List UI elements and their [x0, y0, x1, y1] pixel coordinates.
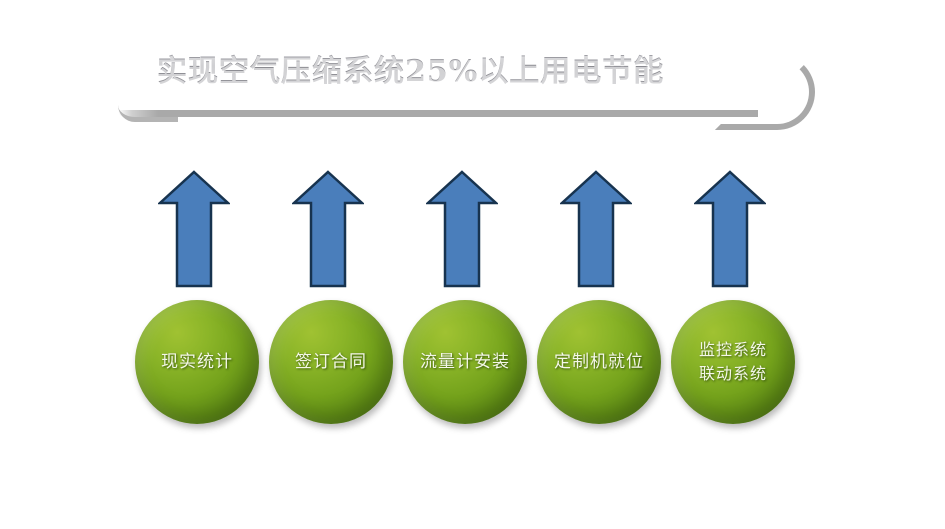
- step-node-5[interactable]: 监控系统 联动系统: [671, 300, 795, 424]
- step-node-label-5: 监控系统 联动系统: [695, 338, 771, 386]
- step-node-label-2: 签订合同: [291, 351, 371, 374]
- arrow-up-icon-3: [426, 170, 498, 288]
- slide-canvas: 实现空气压缩系统25%以上用电节能 现实统计 签订合同 流量计安装 定制机: [0, 0, 945, 529]
- step-node-label-1: 现实统计: [157, 351, 237, 374]
- arrow-up-icon-1: [158, 170, 230, 288]
- step-node-label-3: 流量计安装: [416, 351, 514, 374]
- title-banner: 实现空气压缩系统25%以上用电节能: [115, 38, 785, 133]
- step-node-3[interactable]: 流量计安装: [403, 300, 527, 424]
- step-node-label-4: 定制机就位: [550, 351, 648, 374]
- arrow-up-icon-2: [292, 170, 364, 288]
- arrow-up-icon-5: [694, 170, 766, 288]
- banner-underline-decoration: [118, 110, 758, 117]
- page-title: 实现空气压缩系统25%以上用电节能: [157, 46, 757, 90]
- step-node-1[interactable]: 现实统计: [135, 300, 259, 424]
- step-node-2[interactable]: 签订合同: [269, 300, 393, 424]
- arrow-up-icon-4: [560, 170, 632, 288]
- step-node-4[interactable]: 定制机就位: [537, 300, 661, 424]
